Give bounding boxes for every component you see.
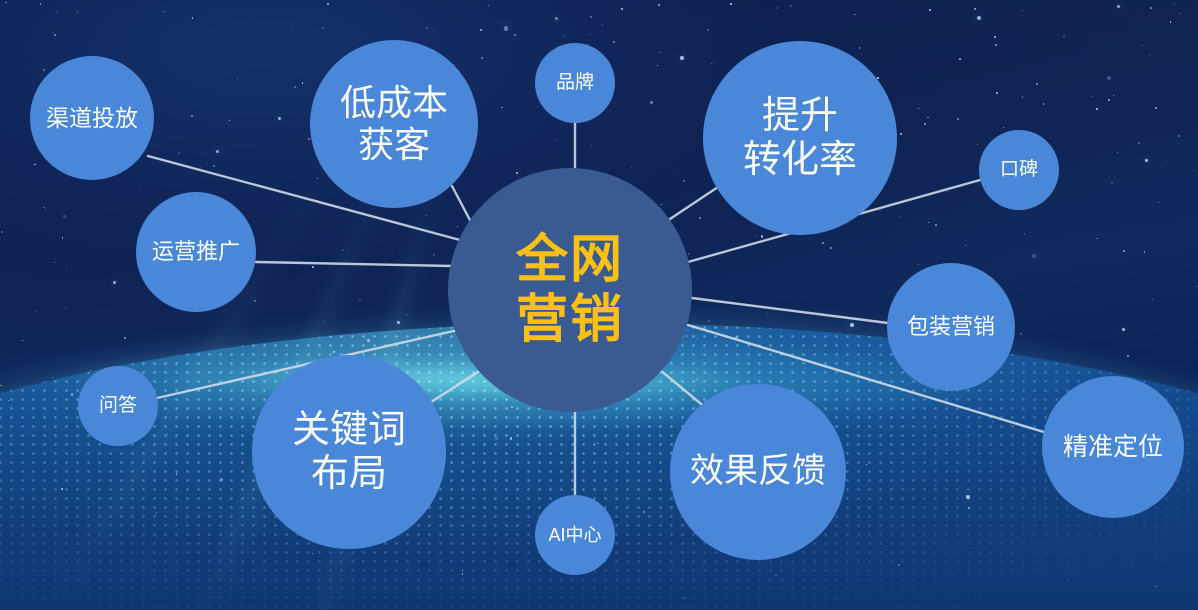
node-label-boost-conversion: 提升 转化率 <box>739 94 861 182</box>
node-center[interactable]: 全网 营销 <box>448 168 692 412</box>
node-label-package-marketing: 包装营销 <box>903 314 999 340</box>
link-center-to-operation-promo <box>256 262 452 266</box>
node-operation-promo[interactable]: 运营推广 <box>136 192 256 312</box>
node-label-ai-center: AI中心 <box>544 525 605 546</box>
link-center-to-effect-feedback <box>660 370 706 408</box>
node-precise-position[interactable]: 精准定位 <box>1042 376 1184 518</box>
node-label-brand: 品牌 <box>552 72 598 94</box>
node-label-low-cost-customer: 低成本 获客 <box>336 82 452 166</box>
node-reputation[interactable]: 口碑 <box>979 130 1059 210</box>
node-label-qa: 问答 <box>95 395 141 417</box>
node-label-precise-position: 精准定位 <box>1059 433 1167 462</box>
link-center-to-low-cost-customer <box>452 186 472 224</box>
node-brand[interactable]: 品牌 <box>535 43 615 123</box>
node-label-operation-promo: 运营推广 <box>148 239 244 265</box>
link-center-to-keyword-layout <box>428 372 478 404</box>
node-label-keyword-layout: 关键词 布局 <box>288 408 410 496</box>
link-center-to-package-marketing <box>692 298 888 323</box>
node-keyword-layout[interactable]: 关键词 布局 <box>252 355 446 549</box>
node-package-marketing[interactable]: 包装营销 <box>887 263 1015 391</box>
node-label-channel-delivery: 渠道投放 <box>42 105 142 132</box>
node-ai-center[interactable]: AI中心 <box>535 495 615 575</box>
node-effect-feedback[interactable]: 效果反馈 <box>670 384 846 560</box>
node-low-cost-customer[interactable]: 低成本 获客 <box>310 40 478 208</box>
node-qa[interactable]: 问答 <box>78 366 158 446</box>
node-channel-delivery[interactable]: 渠道投放 <box>30 56 154 180</box>
node-label-center: 全网 营销 <box>512 230 628 351</box>
node-boost-conversion[interactable]: 提升 转化率 <box>703 41 897 235</box>
node-label-reputation: 口碑 <box>996 159 1042 181</box>
node-label-effect-feedback: 效果反馈 <box>686 452 830 491</box>
mind-map-canvas: 全网 营销渠道投放低成本 获客品牌提升 转化率口碑运营推广包装营销问答精准定位关… <box>0 0 1198 610</box>
